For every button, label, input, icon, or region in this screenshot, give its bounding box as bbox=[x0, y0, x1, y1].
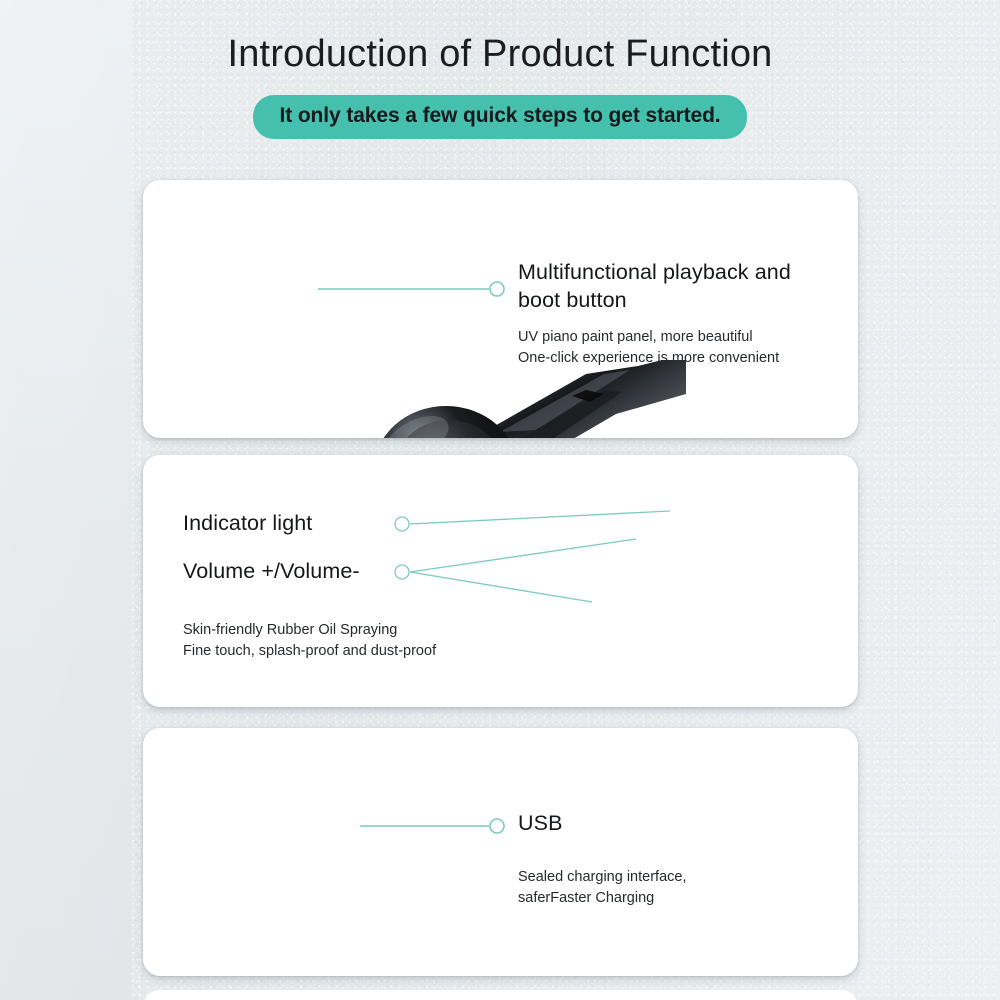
callout-title-multifunction: Multifunctional playback and boot button bbox=[518, 259, 848, 314]
earbud-boom-arm bbox=[456, 360, 686, 438]
callout-title-text: Multifunctional playback and boot button bbox=[518, 259, 848, 314]
earbud-body bbox=[374, 406, 518, 438]
subtitle-badge: It only takes a few quick steps to get s… bbox=[253, 95, 746, 139]
earbud-button-face bbox=[395, 420, 503, 438]
earbud-product-image bbox=[286, 360, 686, 438]
callout-subtitle-multifunction: UV piano paint panel, more beautiful One… bbox=[518, 327, 848, 368]
callout-subtitle-rubber-oil: Skin-friendly Rubber Oil Spraying Fine t… bbox=[183, 620, 513, 661]
page-header: Introduction of Product Function It only… bbox=[0, 0, 1000, 139]
callout-title-text: USB bbox=[518, 810, 563, 838]
product-infographic-page: Introduction of Product Function It only… bbox=[0, 0, 1000, 1000]
callout-subtitle-usb: Sealed charging interface, saferFaster C… bbox=[518, 867, 848, 908]
subtitle-container: It only takes a few quick steps to get s… bbox=[0, 95, 1000, 139]
callout-title-usb: USB bbox=[518, 810, 563, 838]
page-title: Introduction of Product Function bbox=[0, 0, 1000, 76]
next-section-peek bbox=[143, 990, 858, 1000]
label-text: Volume +/Volume- bbox=[183, 558, 360, 586]
callout-subtitle-text: Skin-friendly Rubber Oil Spraying Fine t… bbox=[183, 620, 513, 661]
callout-subtitle-text: Sealed charging interface, saferFaster C… bbox=[518, 867, 848, 908]
feature-card-usb[interactable]: black earphone boom with usb charging po… bbox=[143, 728, 858, 976]
callout-subtitle-text: UV piano paint panel, more beautiful One… bbox=[518, 327, 848, 368]
label-text: Indicator light bbox=[183, 510, 312, 538]
label-indicator-light: Indicator light bbox=[183, 510, 312, 538]
label-volume: Volume +/Volume- bbox=[183, 558, 360, 586]
